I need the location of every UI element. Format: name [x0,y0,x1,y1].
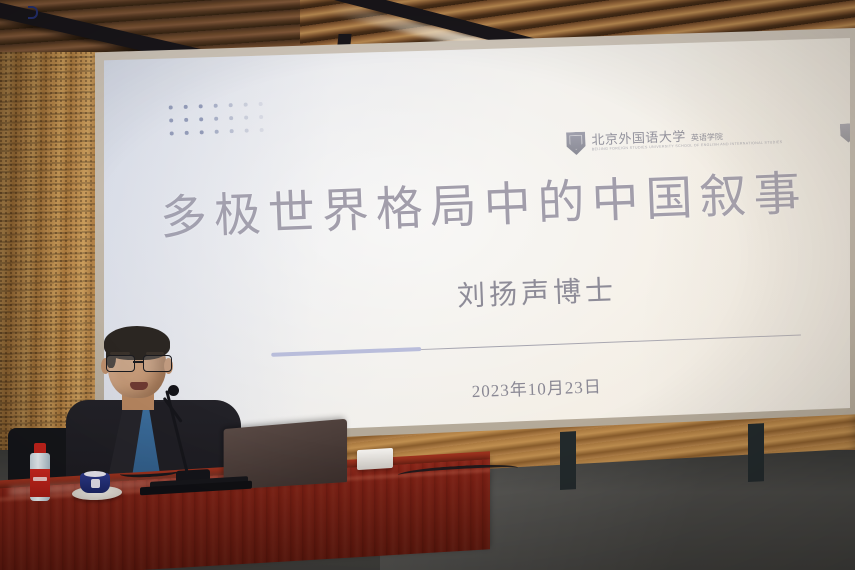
teacup [80,473,110,493]
microphone-head-icon[interactable] [168,385,179,396]
wall-post-right [748,423,764,482]
eyeglass-lens-left [106,355,135,372]
bottle-label [30,469,50,497]
eyeglasses-icon [103,355,173,371]
lecture-hall-scene: 北京外国语大学英语学院 BEIJING FOREIGN STUDIES UNIV… [0,0,855,570]
presenter-mouth [130,382,148,390]
wall-post-left [560,431,576,490]
teacup-emblem-icon [91,479,100,488]
eyeglass-lens-right [143,355,172,372]
white-device-box [357,448,393,470]
water-bottle [30,443,50,501]
eyeglass-bridge [133,361,143,363]
